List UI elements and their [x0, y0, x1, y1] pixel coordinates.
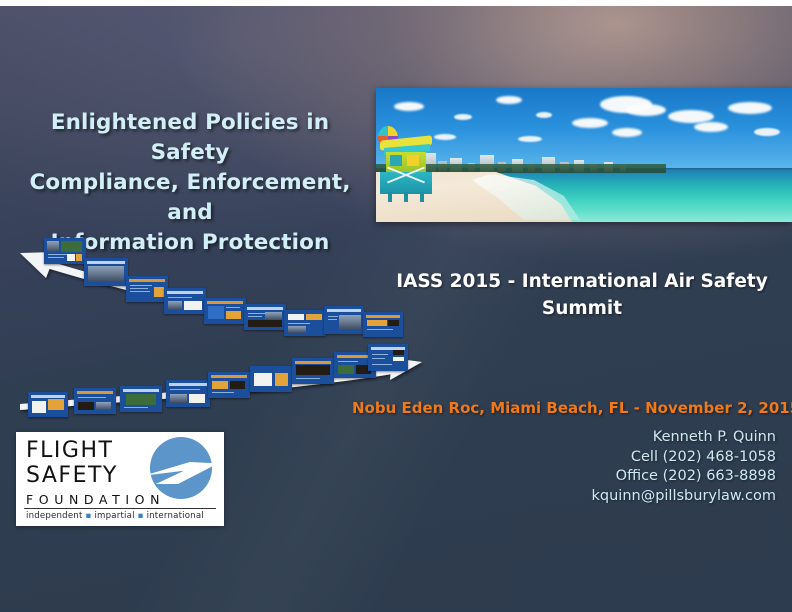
contact-email[interactable]: kquinn@pillsburylaw.com — [432, 487, 776, 507]
slide-thumbnail[interactable] — [28, 392, 68, 417]
logo-line-safety: SAFETY — [26, 465, 118, 487]
slide-thumbnail[interactable] — [250, 366, 292, 392]
cloud-icon — [612, 128, 642, 137]
tagline-independent: independent — [26, 511, 83, 521]
slide-thumbnail[interactable] — [368, 344, 408, 371]
logo-divider — [24, 508, 216, 509]
slide-thumbnail[interactable] — [284, 310, 326, 336]
presentation-slide: Enlightened Policies in Safety Complianc… — [0, 0, 792, 612]
venue-date-line: Nobu Eden Roc, Miami Beach, FL - Novembe… — [352, 399, 776, 417]
slide-title-line-2: Compliance, Enforcement, and — [8, 168, 372, 228]
slide-thumbnail[interactable] — [292, 358, 334, 384]
cloud-icon — [626, 104, 666, 116]
flight-safety-foundation-logo: FLIGHT SAFETY FOUNDATION independent ▪ i… — [16, 432, 224, 526]
slide-thumbnail[interactable] — [84, 258, 128, 286]
slide-thumbnail[interactable] — [208, 372, 250, 398]
lifeguard-tower-icon — [380, 124, 436, 200]
slide-thumbnail[interactable] — [164, 288, 206, 314]
logo-tagline: independent ▪ impartial ▪ international — [26, 511, 216, 521]
cloud-icon — [496, 96, 522, 104]
tagline-separator: ▪ — [85, 511, 91, 521]
tagline-separator: ▪ — [138, 511, 144, 521]
cloud-icon — [728, 102, 772, 114]
cloud-icon — [572, 118, 608, 128]
event-title: IASS 2015 - International Air Safety Sum… — [372, 268, 792, 322]
slide-thumbnail[interactable] — [244, 304, 286, 330]
slide-thumbnail[interactable] — [166, 380, 210, 407]
tagline-international: international — [147, 511, 204, 521]
cloud-icon — [434, 134, 456, 140]
slide-title-line-1: Enlightened Policies in Safety — [8, 108, 372, 168]
slide-thumbnail[interactable] — [324, 306, 364, 334]
slide-thumbnail[interactable] — [74, 388, 116, 414]
cloud-icon — [454, 114, 472, 120]
miami-beach-photo — [376, 88, 792, 222]
logo-line-foundation: FOUNDATION — [26, 492, 165, 507]
tagline-impartial: impartial — [94, 511, 134, 521]
logo-line-flight: FLIGHT — [26, 440, 113, 462]
slide-title: Enlightened Policies in Safety Complianc… — [8, 108, 372, 258]
slide-thumbnail[interactable] — [44, 238, 86, 264]
cloud-icon — [518, 136, 542, 142]
contact-block: Kenneth P. Quinn Cell (202) 468-1058 Off… — [432, 428, 776, 506]
cloud-icon — [754, 128, 780, 136]
contact-name: Kenneth P. Quinn — [432, 428, 776, 448]
event-title-line-2: Summit — [372, 295, 792, 322]
slide-thumbnail[interactable] — [204, 298, 246, 324]
contact-cell: Cell (202) 468-1058 — [432, 448, 776, 468]
contact-office: Office (202) 663-8898 — [432, 467, 776, 487]
cloud-icon — [394, 102, 424, 111]
cloud-icon — [536, 112, 552, 118]
cloud-icon — [668, 110, 714, 123]
event-title-line-1: IASS 2015 - International Air Safety — [372, 268, 792, 295]
slide-thumbnail[interactable] — [120, 386, 162, 412]
cloud-icon — [694, 122, 728, 132]
slide-thumbnail[interactable] — [126, 276, 168, 302]
